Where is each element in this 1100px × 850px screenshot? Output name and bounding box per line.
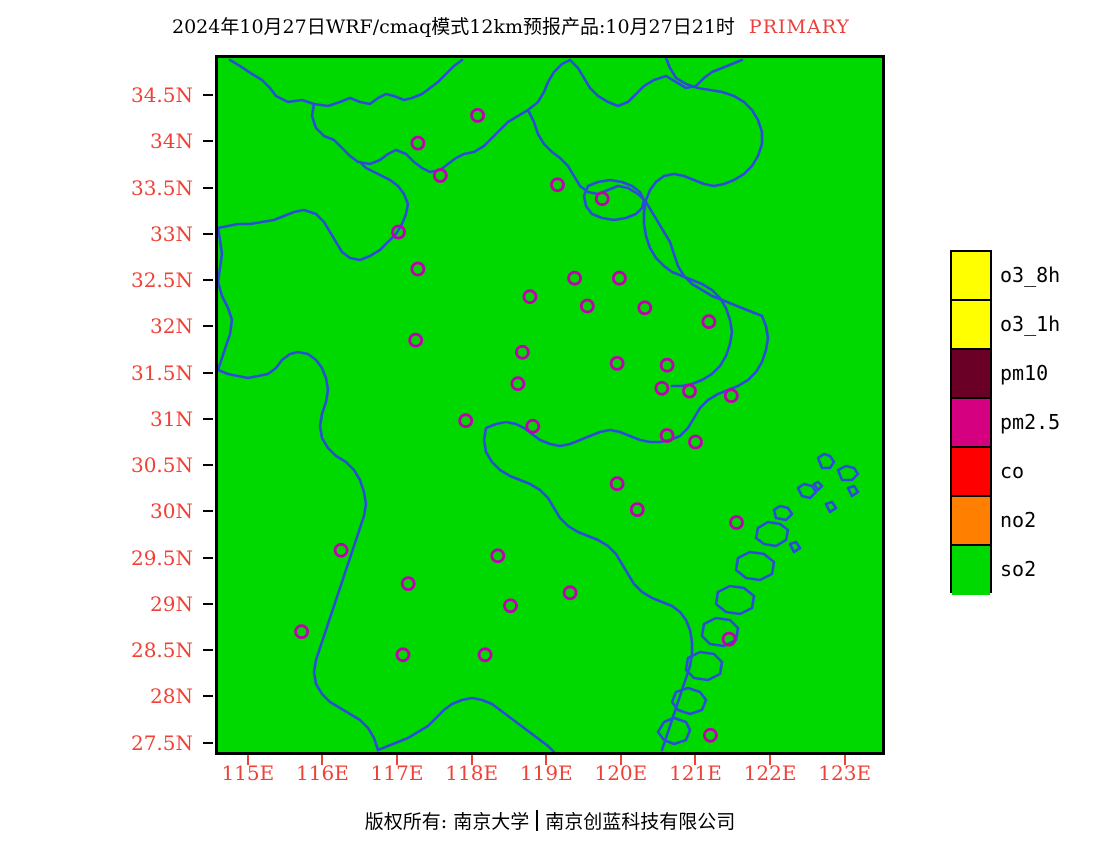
footer-left-text: 版权所有: 南京大学 [365,807,529,834]
legend-swatch-no2[interactable] [952,497,990,546]
x-axis-tick [769,755,771,765]
legend-swatch-co[interactable] [952,448,990,497]
x-axis-tick [396,755,398,765]
footer-separator [536,810,538,831]
legend-swatch-pm10[interactable] [952,350,990,399]
x-axis-tick [844,755,846,765]
x-axis-tick [471,755,473,765]
footer-copyright: 版权所有: 南京大学南京创蓝科技有限公司 [0,807,1100,834]
legend-label-co: co [1000,459,1024,483]
legend-label-so2: so2 [1000,557,1036,581]
legend-swatch-o3-1h[interactable] [952,301,990,350]
x-axis-tick [321,755,323,765]
footer-right-text: 南京创蓝科技有限公司 [545,807,735,834]
x-axis-labels: 115E116E117E118E119E120E121E122E123E [0,0,1100,850]
forecast-map-page: 2024年10月27日WRF/cmaq模式12km预报产品:10月27日21时P… [0,0,1100,850]
legend-swatches[interactable] [950,250,992,593]
legend-label-pm10: pm10 [1000,361,1048,385]
legend-label-pm2-5: pm2.5 [1000,410,1060,434]
legend-swatch-o3-8h[interactable] [952,252,990,301]
x-axis-tick [545,755,547,765]
x-axis-tick [620,755,622,765]
legend-label-no2: no2 [1000,508,1036,532]
legend-label-o3-8h: o3_8h [1000,263,1060,287]
legend-swatch-so2[interactable] [952,546,990,595]
x-axis-tick [247,755,249,765]
legend-swatch-pm2-5[interactable] [952,399,990,448]
legend-label-o3-1h: o3_1h [1000,312,1060,336]
x-axis-tick [694,755,696,765]
